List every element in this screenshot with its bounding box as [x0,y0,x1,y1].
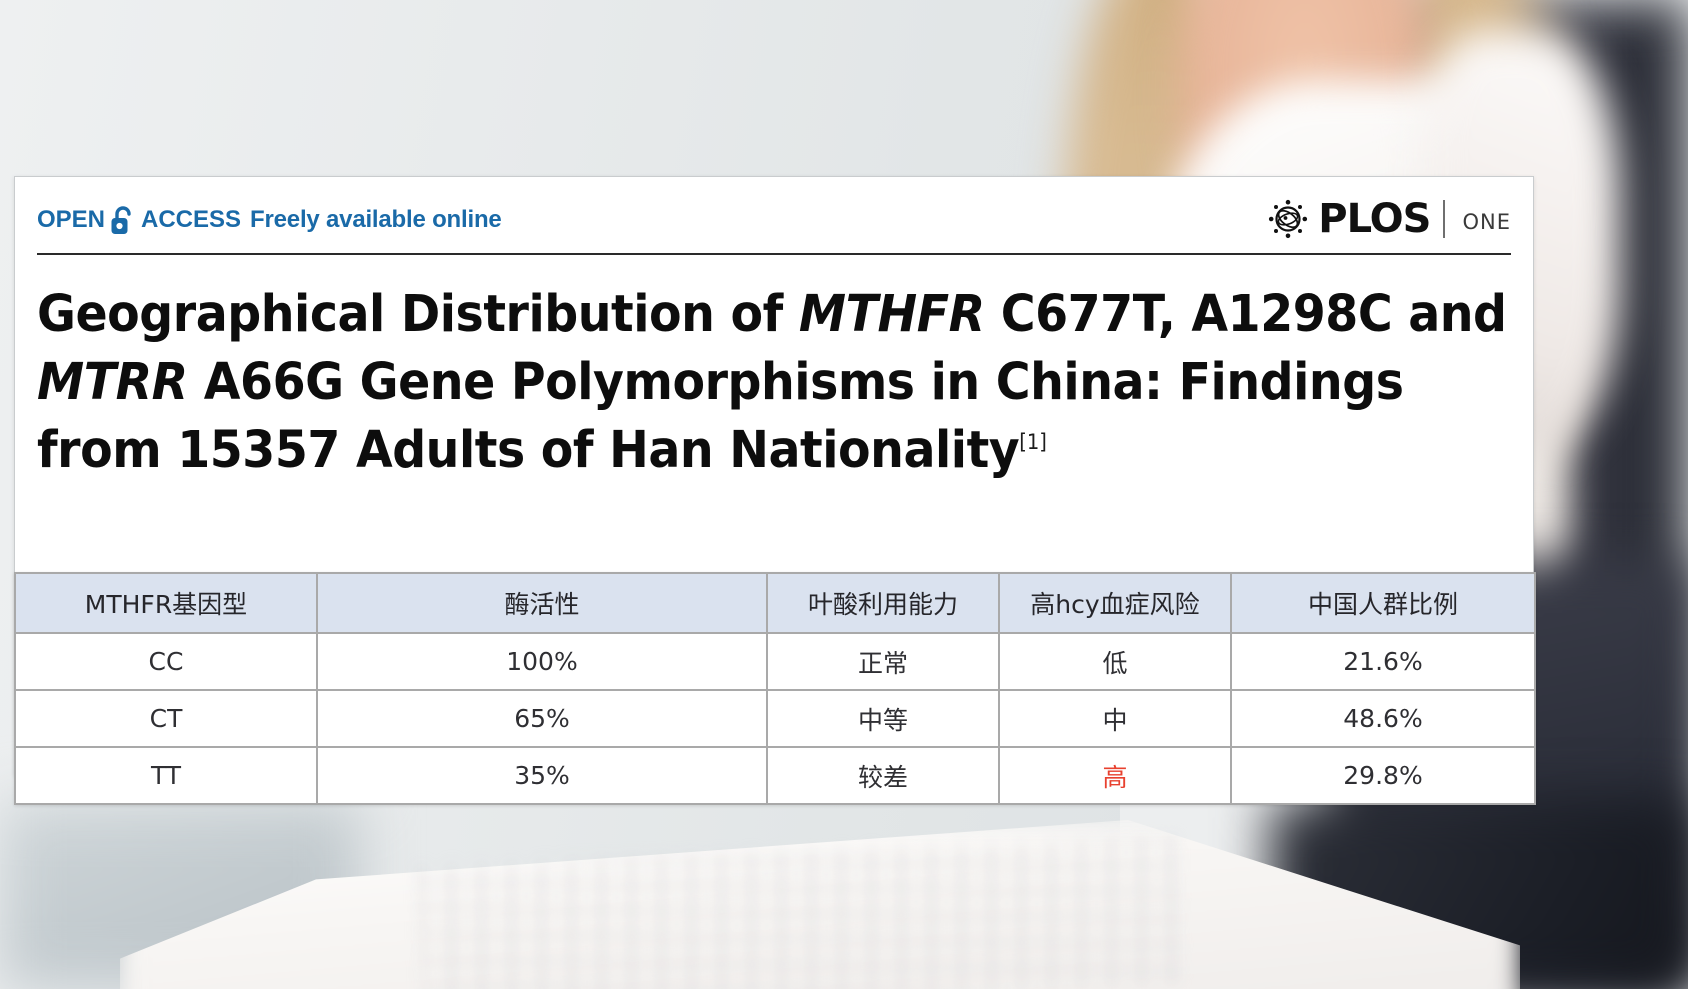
cell-folate-utilization: 较差 [767,747,999,804]
cell-folate-utilization: 正常 [767,633,999,690]
table-header-row: MTHFR基因型 酶活性 叶酸利用能力 高hcy血症风险 中国人群比例 [15,573,1535,633]
cell-folate-utilization: 中等 [767,690,999,747]
open-access-open-label: OPEN [37,206,105,234]
cell-china-population: 48.6% [1231,690,1535,747]
open-lock-icon [110,205,136,235]
cell-enzyme-activity: 100% [317,633,767,690]
paper-title: Geographical Distribution of MTHFR C677T… [37,281,1408,484]
plos-wordmark: PLOS [1318,199,1430,239]
title-line1-part-a: Geographical Distribution of [37,285,799,344]
cell-hcy-risk: 中 [999,690,1231,747]
citation-marker: [1] [1019,430,1047,454]
title-line-1: Geographical Distribution of MTHFR C677T… [37,285,1507,344]
title-line3-text: from 15357 Adults of Han Nationality [37,421,1019,480]
column-header-hcy-risk: 高hcy血症风险 [999,573,1231,633]
cell-genotype: CT [15,690,317,747]
cell-china-population: 29.8% [1231,747,1535,804]
cell-hcy-risk: 高 [999,747,1231,804]
logo-divider [1443,200,1445,238]
plos-publication-name: ONE [1462,206,1511,233]
open-access-tagline: Freely available online [250,206,502,234]
column-header-enzyme-activity: 酶活性 [317,573,767,633]
cell-china-population: 21.6% [1231,633,1535,690]
open-access-banner: OPEN ACCESS Freely available online [37,205,502,235]
table-row: CC 100% 正常 低 21.6% [15,633,1535,690]
cell-genotype: TT [15,747,317,804]
gene-name-mthfr: MTHFR [799,285,985,344]
journal-header: OPEN ACCESS Freely available online [37,177,1511,255]
cell-enzyme-activity: 65% [317,690,767,747]
gene-name-mtrr: MTRR [37,353,188,412]
cell-genotype: CC [15,633,317,690]
mthfr-genotype-table: MTHFR基因型 酶活性 叶酸利用能力 高hcy血症风险 中国人群比例 CC 1… [14,572,1536,805]
column-header-china-population: 中国人群比例 [1231,573,1535,633]
title-line-2: MTRR A66G Gene Polymorphisms in China: F… [37,353,1403,412]
title-line2-part-b: A66G Gene Polymorphisms in China: Findin… [188,353,1404,412]
column-header-folate-utilization: 叶酸利用能力 [767,573,999,633]
title-line1-part-b: C677T, A1298C and [985,285,1507,344]
table-row: TT 35% 较差 高 29.8% [15,747,1535,804]
open-access-access-label: ACCESS [141,206,241,234]
column-header-genotype: MTHFR基因型 [15,573,317,633]
plos-orbit-icon [1267,198,1309,240]
cell-hcy-risk: 低 [999,633,1231,690]
title-line-3: from 15357 Adults of Han Nationality[1] [37,421,1047,480]
cell-enzyme-activity: 35% [317,747,767,804]
table-row: CT 65% 中等 中 48.6% [15,690,1535,747]
plos-one-logo: PLOS ONE [1267,198,1511,240]
